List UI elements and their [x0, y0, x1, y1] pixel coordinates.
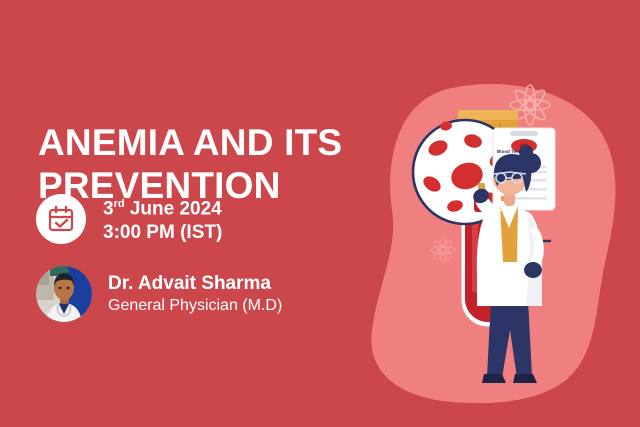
event-date-suffix: rd — [114, 198, 125, 210]
event-date-rest: June 2024 — [125, 198, 222, 219]
webinar-poster: Blood Test ANEMIA AND ITS PREVENTION 3rd… — [0, 0, 640, 427]
title-line-1: ANEMIA AND ITS — [38, 122, 342, 163]
illustration — [360, 0, 640, 427]
speaker-info: Dr. Advait Sharma General Physician (M.D… — [108, 272, 282, 316]
blood-test-report-title: Blood Test — [497, 149, 520, 154]
event-time: 3:00 PM (IST) — [103, 221, 222, 245]
avatar — [36, 266, 92, 322]
schedule-text: 3rd June 2024 3:00 PM (IST) — [103, 192, 222, 245]
speaker-role: General Physician (M.D) — [108, 295, 282, 316]
poster-content: ANEMIA AND ITS PREVENTION 3rd June 2024 … — [0, 0, 400, 427]
calendar-check-icon — [36, 194, 86, 244]
speaker-row: Dr. Advait Sharma General Physician (M.D… — [36, 266, 282, 322]
schedule-row: 3rd June 2024 3:00 PM (IST) — [36, 192, 222, 245]
atom-icon-small — [562, 191, 590, 219]
event-date-day: 3 — [103, 198, 114, 219]
speaker-name: Dr. Advait Sharma — [108, 272, 282, 295]
event-date: 3rd June 2024 — [103, 192, 222, 221]
atom-icon-tiny — [431, 238, 455, 262]
